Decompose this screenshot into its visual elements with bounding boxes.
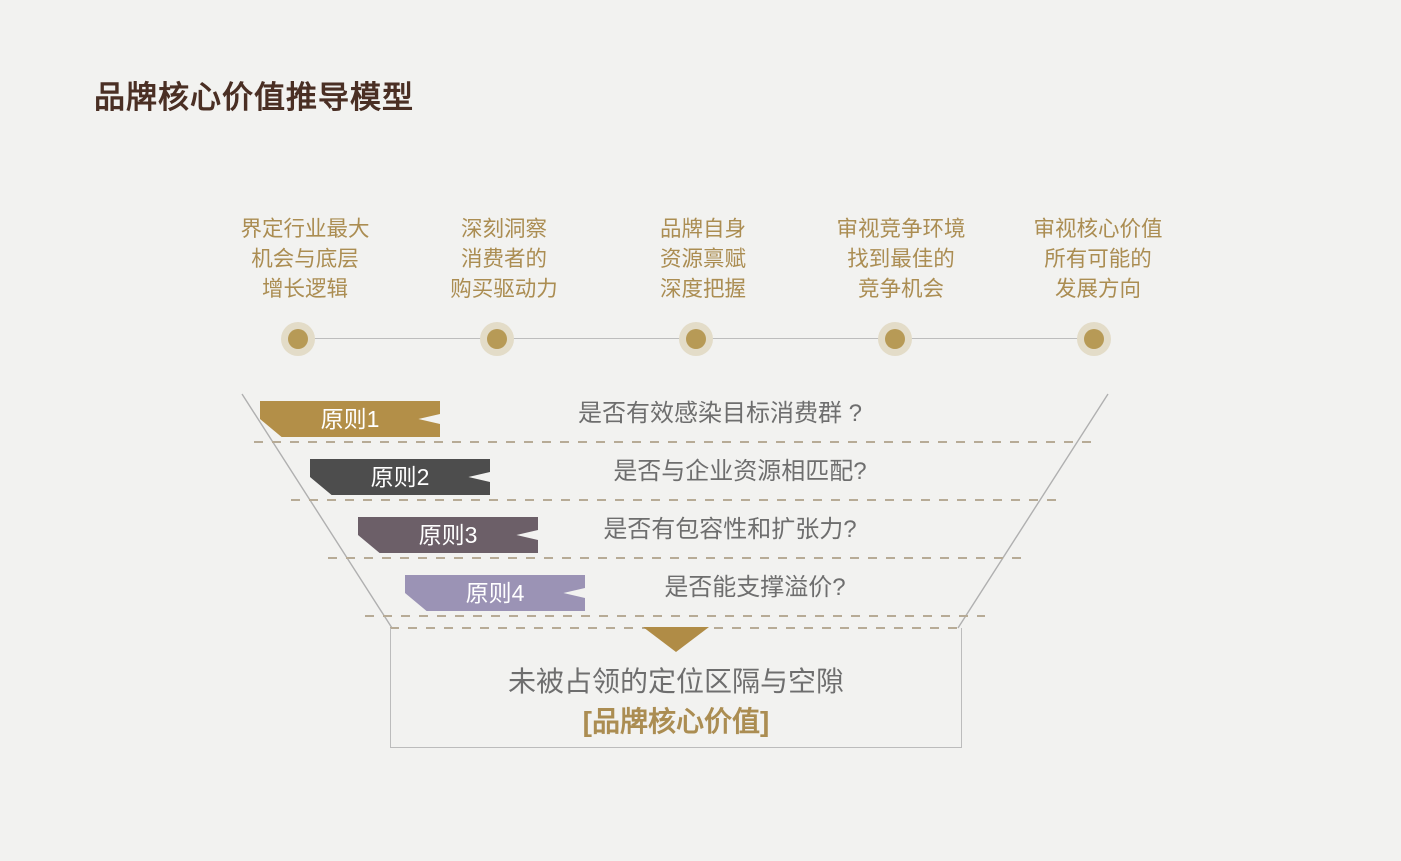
principle-question-2: 是否与企业资源相匹配? (530, 454, 950, 490)
timeline-dot-1[interactable] (281, 322, 315, 356)
step-2-line-2: 消费者的 (404, 244, 604, 274)
funnel-right-wall (958, 394, 1108, 628)
step-4-line-2: 找到最佳的 (801, 244, 1001, 274)
step-4-line-3: 竞争机会 (801, 274, 1001, 304)
step-2-line-1: 深刻洞察 (404, 214, 604, 244)
result-text-highlight: [品牌核心价值] (391, 700, 961, 740)
principle-question-3: 是否有包容性和扩张力? (520, 512, 940, 548)
step-1-line-3: 增长逻辑 (205, 274, 405, 304)
step-5-line-3: 发展方向 (998, 274, 1198, 304)
step-label-4: 审视竞争环境 找到最佳的 竞争机会 (801, 214, 1001, 304)
step-5-line-2: 所有可能的 (998, 244, 1198, 274)
steps-row: 界定行业最大 机会与底层 增长逻辑 深刻洞察 消费者的 购买驱动力 品牌自身 资… (205, 214, 1195, 304)
principle-badge-2[interactable]: 原则2 (310, 459, 490, 495)
step-3-line-2: 资源禀赋 (603, 244, 803, 274)
funnel-output-arrow-icon (643, 627, 709, 652)
timeline-dot-5[interactable] (1077, 322, 1111, 356)
page-title: 品牌核心价值推导模型 (94, 72, 414, 117)
step-label-3: 品牌自身 资源禀赋 深度把握 (603, 214, 803, 304)
step-label-1: 界定行业最大 机会与底层 增长逻辑 (205, 214, 405, 304)
result-text-primary: 未被占领的定位区隔与空隙 (391, 660, 961, 700)
principle-badge-3[interactable]: 原则3 (358, 517, 538, 553)
step-1-line-2: 机会与底层 (205, 244, 405, 274)
step-4-line-1: 审视竞争环境 (801, 214, 1001, 244)
result-box: 未被占领的定位区隔与空隙 [品牌核心价值] (390, 628, 962, 748)
timeline-dot-2[interactable] (480, 322, 514, 356)
step-5-line-1: 审视核心价值 (998, 214, 1198, 244)
principle-question-1: 是否有效感染目标消费群 ? (510, 396, 930, 432)
step-1-line-1: 界定行业最大 (205, 214, 405, 244)
step-label-5: 审视核心价值 所有可能的 发展方向 (998, 214, 1198, 304)
step-2-line-3: 购买驱动力 (404, 274, 604, 304)
step-label-2: 深刻洞察 消费者的 购买驱动力 (404, 214, 604, 304)
timeline-dot-3[interactable] (679, 322, 713, 356)
slide-canvas: 品牌核心价值推导模型 界定行业最大 机会与底层 增长逻辑 深刻洞察 消费者的 购… (0, 0, 1401, 861)
timeline (280, 322, 1115, 356)
principle-badge-1[interactable]: 原则1 (260, 401, 440, 437)
step-3-line-3: 深度把握 (603, 274, 803, 304)
principle-question-4: 是否能支撑溢价? (545, 570, 965, 606)
step-3-line-1: 品牌自身 (603, 214, 803, 244)
timeline-dot-4[interactable] (878, 322, 912, 356)
